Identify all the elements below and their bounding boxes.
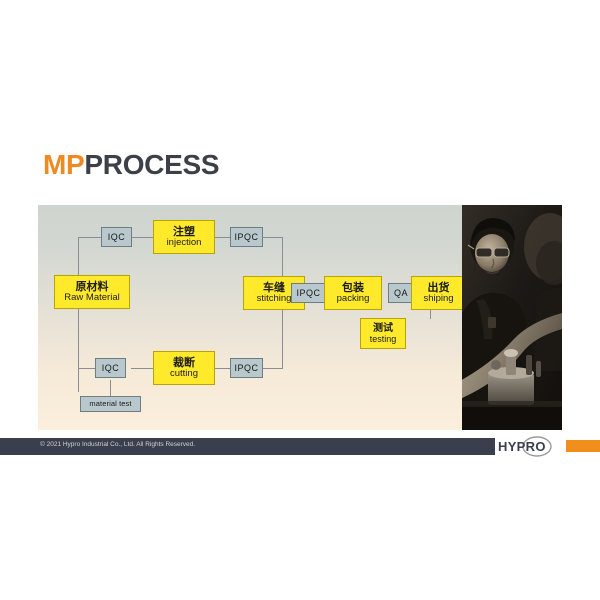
node-ipqc-top[interactable]: IPQC [230,227,263,247]
node-shipping[interactable]: 出货 shiping [411,276,466,310]
node-packing-cn: 包装 [342,282,364,294]
connector-ipqc-top-to-trunk [260,237,282,238]
slide-canvas: MPPROCESS 原材料 Raw Material [0,0,600,600]
node-material-test[interactable]: material test [80,396,141,412]
node-injection-cn: 注塑 [173,226,195,238]
factory-worker-photo [462,205,562,430]
node-iqc-bottom-label: IQC [102,363,120,373]
page-title-rest: PROCESS [84,149,219,180]
process-flow-diagram: 原材料 Raw Material IQC 注塑 injection IPQC I… [38,205,562,430]
node-ipqc-mid[interactable]: IPQC [291,283,326,303]
node-ipqc-bottom[interactable]: IPQC [230,358,263,378]
node-testing[interactable]: 测试 testing [360,318,406,349]
node-raw-material[interactable]: 原材料 Raw Material [54,275,130,309]
node-raw-material-cn: 原材料 [76,281,109,293]
page-title-accent: MP [43,149,84,180]
node-packing-en: packing [337,294,370,305]
node-ipqc-bottom-label: IPQC [234,363,258,373]
node-stitching-en: stitching [257,294,292,305]
hypro-logo-icon: HYPRO [497,436,563,457]
connector-ipqc-bottom-to-trunk [260,368,282,369]
connector-iqc-to-cutting [131,368,154,369]
node-testing-en: testing [370,334,397,344]
node-ipqc-mid-label: IPQC [296,288,320,298]
node-material-test-label: material test [89,400,131,408]
node-iqc-bottom[interactable]: IQC [95,358,126,378]
node-cutting-cn: 裁断 [173,357,195,369]
node-cutting-en: cutting [170,369,198,380]
brand-logo: HYPRO [497,436,600,457]
node-packing[interactable]: 包装 packing [324,276,382,310]
node-testing-cn: 测试 [373,323,393,334]
connector-iqc-to-injection [131,237,154,238]
svg-text:HYPRO: HYPRO [498,439,546,454]
node-iqc-top-label: IQC [108,232,126,242]
node-injection-en: injection [167,238,202,249]
node-shipping-cn: 出货 [428,282,450,294]
footer-copyright: © 2021 Hypro Industrial Co., Ltd. All Ri… [40,442,195,449]
node-ipqc-top-label: IPQC [234,232,258,242]
node-stitching-cn: 车缝 [263,282,285,294]
node-raw-material-en: Raw Material [64,293,119,304]
node-shipping-en: shiping [423,294,453,305]
node-qa-label: QA [394,288,408,298]
node-cutting[interactable]: 裁断 cutting [153,351,215,385]
node-iqc-top[interactable]: IQC [101,227,132,247]
connector-raw-to-iqc-top [78,237,103,238]
page-title: MPPROCESS [43,151,219,179]
connector-iqc-to-material-test [110,380,111,397]
node-injection[interactable]: 注塑 injection [153,220,215,254]
logo-accent-block [566,440,600,452]
